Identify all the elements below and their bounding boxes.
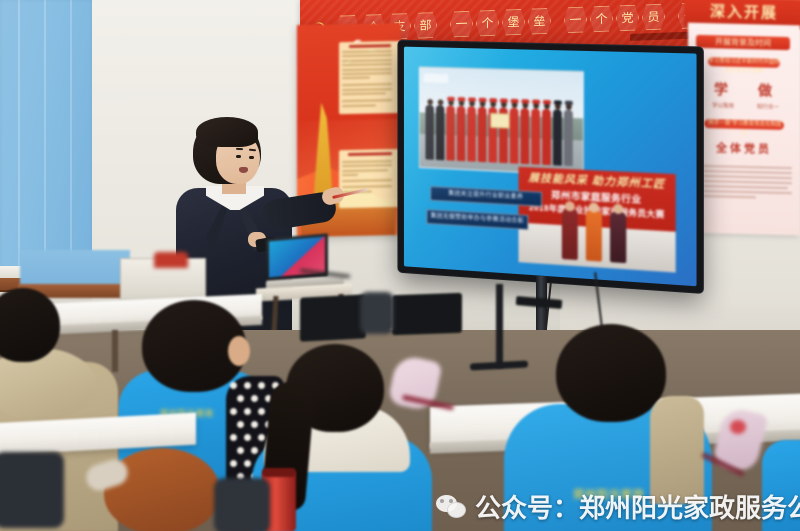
slogan-cell-gap — [554, 7, 561, 31]
polka-dot — [251, 395, 258, 402]
black-monitor — [300, 294, 366, 341]
flower-bloom — [730, 420, 746, 434]
red-object-on-cabinet — [154, 252, 188, 268]
presenter-fringe — [196, 117, 258, 147]
polka-dot — [237, 395, 244, 402]
chair — [0, 452, 64, 528]
right-poster-pill-1: 学习贯彻习近平新时代中国特色社会主义思想 — [708, 57, 780, 68]
right-poster-caption-1: 学以致用 — [706, 101, 740, 110]
poster-text-panel-bottom — [339, 149, 401, 208]
right-poster-caption-2: 知行合一 — [750, 102, 786, 111]
polka-dot — [258, 434, 265, 441]
right-wall-poster: 开展背景及时间 学习贯彻习近平新时代中国特色社会主义思想 学 做 学以致用 知行… — [688, 23, 800, 236]
presenter-eye — [249, 156, 254, 159]
right-poster-section-title: 开展背景及时间 — [696, 35, 790, 50]
slogan-cell-gap — [668, 3, 675, 27]
polka-dot — [251, 447, 258, 454]
polka-dot — [230, 408, 237, 415]
wechat-icon — [436, 494, 466, 519]
poster-text-panel-top — [339, 41, 401, 114]
polka-dot — [230, 382, 237, 389]
polka-dot — [244, 408, 251, 415]
chair — [214, 478, 270, 531]
polka-dot — [237, 421, 244, 428]
tv-screen: 展技能风采 助力郑州工匠 郑州市家庭服务行业 2018年度职业技能家政服务员大赛… — [404, 47, 697, 287]
thermos-cap — [262, 468, 296, 477]
presenter-eye — [236, 155, 241, 158]
slogan-cell: 个 — [590, 6, 613, 33]
slogan-cell-gap — [440, 12, 447, 36]
slogan-cell: 一 — [564, 6, 587, 33]
slogan-cell: 员 — [642, 4, 665, 31]
polka-dot — [244, 434, 251, 441]
right-poster-big-2: 做 — [754, 80, 786, 101]
presenter-brow — [236, 148, 243, 150]
slogan-cell: 一 — [450, 11, 473, 38]
screen-glare — [404, 47, 697, 287]
polka-dot — [230, 434, 237, 441]
polka-dot — [230, 460, 237, 467]
polka-dot — [251, 421, 258, 428]
chair-back — [360, 292, 394, 334]
presenter-mouth — [239, 167, 248, 173]
photo-scene: ☭ 一个支部一个堡垒一个党员一面旗帜 — [0, 0, 800, 531]
polka-dot — [258, 382, 265, 389]
window-curtain — [0, 0, 92, 270]
slogan-cell: 堡 — [502, 9, 525, 36]
wechat-watermark: 公众号：郑州阳光家政服务公司 — [436, 488, 800, 525]
right-poster-big-1: 学 — [710, 79, 742, 100]
right-poster-pill-2: “两学一做”学习教育常态化制度化 — [704, 119, 784, 130]
audience-ear — [228, 336, 250, 366]
audience-head — [556, 324, 666, 422]
polka-dot — [258, 408, 265, 415]
watermark-text: 公众号：郑州阳光家政服务公司 — [475, 488, 800, 525]
polka-dot — [237, 447, 244, 454]
slogan-cell: 垒 — [528, 8, 551, 35]
equipment-stand — [496, 284, 503, 368]
black-monitor-2 — [392, 293, 462, 335]
desk-leg — [112, 330, 118, 372]
polka-dot — [244, 382, 251, 389]
right-poster-mid-text: 全体党员 — [694, 139, 794, 157]
presentation-tv[interactable]: 展技能风采 助力郑州工匠 郑州市家庭服务行业 2018年度职业技能家政服务员大赛… — [398, 41, 702, 293]
slogan-cell: 部 — [414, 12, 437, 39]
slogan-cell: 个 — [476, 10, 499, 37]
banner-subtext-bar — [630, 32, 692, 41]
polka-dot — [244, 460, 251, 467]
right-poster-body-lines — [696, 165, 792, 202]
slogan-cell: 党 — [616, 5, 639, 32]
